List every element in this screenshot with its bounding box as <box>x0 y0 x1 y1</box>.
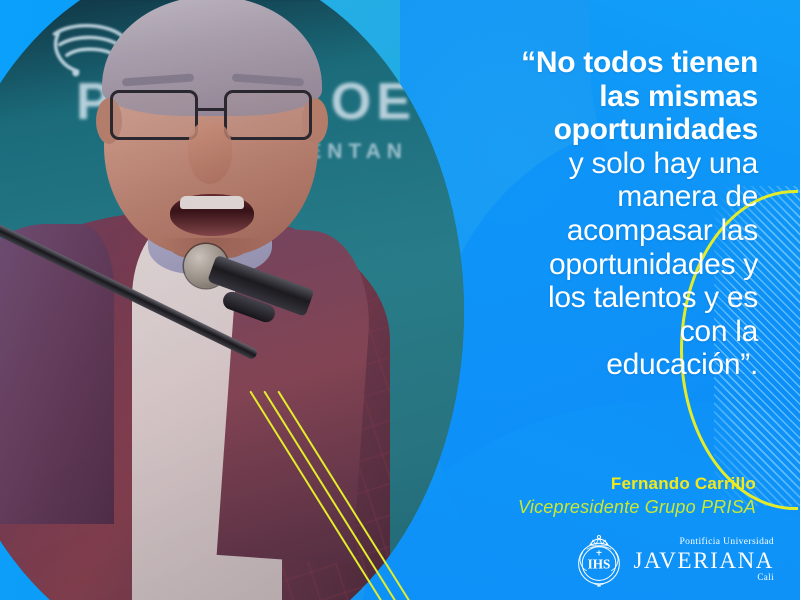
logo-line-pontificia: Pontificia Universidad <box>679 538 774 548</box>
quote-line: los talentos y es <box>458 281 758 315</box>
quote-card: PRISA y OE PRESENTAN <box>0 0 800 600</box>
speaker-name: Fernando Carrillo <box>436 474 756 494</box>
photo-inner: PRISA y OE PRESENTAN <box>0 0 464 600</box>
speaker-role: Vicepresidente Grupo PRISA <box>436 497 756 518</box>
attribution: Fernando Carrillo Vicepresidente Grupo P… <box>436 474 756 518</box>
logo-line-cali: Cali <box>757 573 774 582</box>
quote-line: “No todos tienen <box>458 46 758 80</box>
quote-line: educación”. <box>458 348 758 382</box>
quote-line: las mismas <box>458 80 758 114</box>
quote-line: oportunidades y <box>458 248 758 282</box>
photo-color-tint <box>0 0 464 600</box>
quote-line: oportunidades <box>458 113 758 147</box>
javeriana-logo-text: Pontificia Universidad JAVERIANA Cali <box>634 538 775 583</box>
javeriana-crest-icon: IHS <box>573 532 625 588</box>
quote-line: acompasar las <box>458 214 758 248</box>
quote-line: con la <box>458 315 758 349</box>
speaker-photo: PRISA y OE PRESENTAN <box>0 0 464 600</box>
logo-line-javeriana: JAVERIANA <box>634 549 775 572</box>
svg-text:IHS: IHS <box>587 557 610 572</box>
quote-line: y solo hay una <box>458 147 758 181</box>
quote-text: “No todos tienen las mismas oportunidade… <box>458 46 758 382</box>
javeriana-logo: IHS Pontificia Universidad JAVERIANA Cal… <box>573 532 775 588</box>
quote-line: manera de <box>458 180 758 214</box>
